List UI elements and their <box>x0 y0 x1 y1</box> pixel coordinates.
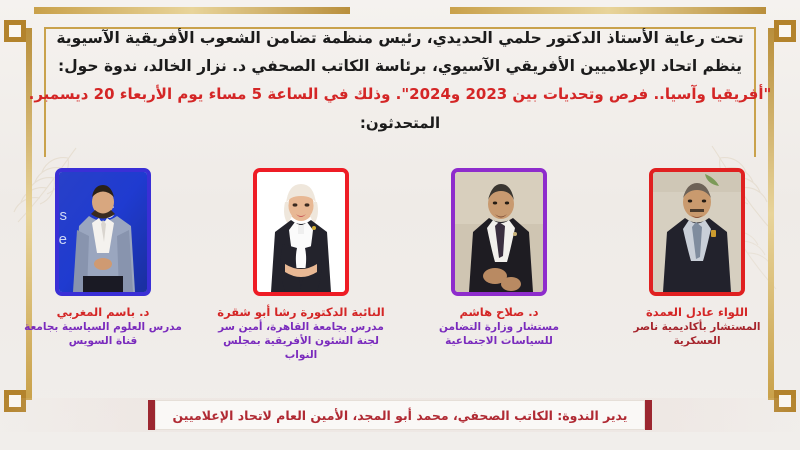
moderator-banner: يدير الندوة: الكاتب الصحفي، محمد أبو الم… <box>148 400 652 430</box>
speaker-title-4: المستشار بأكاديمية ناصر العسكرية <box>604 321 790 348</box>
speaker-title-1: مدرس العلوم السياسية بجامعة قناة السويس <box>10 321 196 348</box>
speaker-photo-frame-3 <box>451 168 547 296</box>
speaker-name-1: د. باسم المغربي <box>10 305 196 319</box>
speaker-name-2: النائبة الدكتورة رشا أبو شقرة <box>208 305 394 319</box>
speaker-photo-frame-1: ns ge C ARN GY <box>55 168 151 296</box>
speaker-photo-basem-elmaghraby: ns ge C ARN GY <box>59 172 147 292</box>
gold-bar-top-right <box>450 7 766 14</box>
headline-block: تحت رعاية الأستاذ الدكتور حلمي الحديدي، … <box>0 30 800 132</box>
speaker-photo-frame-4 <box>649 168 745 296</box>
speaker-card-1: ns ge C ARN GY <box>10 168 196 349</box>
speaker-card-3: د. صلاح هاشم مستشار وزارة التضامن للسياس… <box>406 168 592 349</box>
speaker-card-4: اللواء عادل العمدة المستشار بأكاديمية نا… <box>604 168 790 349</box>
svg-text:ns: ns <box>59 207 67 224</box>
speaker-photo-salah-hashem <box>455 172 543 292</box>
speaker-card-2: النائبة الدكتورة رشا أبو شقرة مدرس بجامع… <box>208 168 394 362</box>
headline-line-2: ينظم اتحاد الإعلاميين الأفريقي الآسيوي، … <box>0 58 800 75</box>
speaker-title-2: مدرس بجامعة القاهرة، أمين سر لجنة الشئون… <box>208 321 394 362</box>
speakers-label: المتحدثون: <box>0 114 800 132</box>
speaker-photo-adel-elomda <box>653 172 741 292</box>
svg-text:ge: ge <box>59 231 67 248</box>
topic-line: "أفريقيا وآسيا.. فرص وتحديات بين 2023 و2… <box>0 86 800 103</box>
speaker-title-3: مستشار وزارة التضامن للسياسات الاجتماعية <box>406 321 592 348</box>
speaker-photo-frame-2 <box>253 168 349 296</box>
speaker-photo-rasha-abou-shoukra <box>257 172 345 292</box>
gold-bar-top-left <box>34 7 350 14</box>
moderator-text: يدير الندوة: الكاتب الصحفي، محمد أبو الم… <box>173 408 628 423</box>
speaker-name-3: د. صلاح هاشم <box>406 305 592 319</box>
speakers-row: ns ge C ARN GY <box>10 168 790 362</box>
headline-line-1: تحت رعاية الأستاذ الدكتور حلمي الحديدي، … <box>0 30 800 47</box>
speaker-name-4: اللواء عادل العمدة <box>604 305 790 319</box>
event-poster: تحت رعاية الأستاذ الدكتور حلمي الحديدي، … <box>0 0 800 450</box>
